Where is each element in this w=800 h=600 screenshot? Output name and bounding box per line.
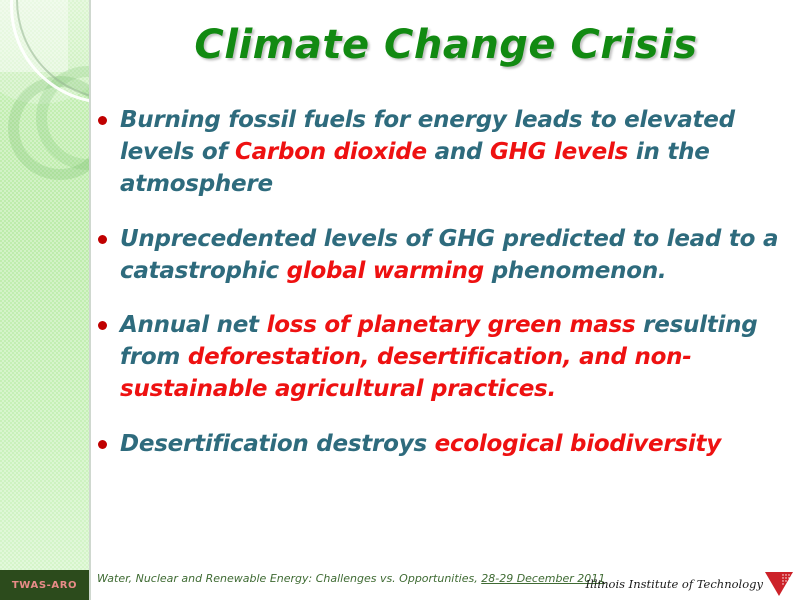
sidebar-divider — [89, 0, 91, 570]
bullet-4-seg-0: Desertification destroys — [120, 431, 435, 457]
footer-divider — [91, 568, 800, 569]
slide-canvas: Climate Change Crisis Burning fossil fue… — [0, 0, 800, 600]
list-item: Burning fossil fuels for energy leads to… — [98, 104, 792, 201]
bullet-3-seg-0: Annual net — [120, 312, 267, 338]
bullet-4-text: Desertification destroys ecological biod… — [120, 428, 792, 460]
institution-name: Illinois Institute of Technology — [586, 577, 763, 591]
bullet-dot-icon — [98, 321, 107, 330]
bullet-dot-icon — [98, 116, 107, 125]
bullet-3-text: Annual net loss of planetary green mass … — [120, 309, 792, 406]
bullet-1-seg-3: GHG levels — [490, 139, 628, 165]
list-item: Desertification destroys ecological biod… — [98, 428, 792, 460]
bullet-2-seg-2: phenomenon. — [484, 258, 666, 284]
bullet-4-seg-1: ecological biodiversity — [435, 431, 721, 457]
bullet-3-seg-3: deforestation, desertification, and non-… — [120, 344, 692, 402]
footer-note-main: Water, Nuclear and Renewable Energy: Cha… — [97, 572, 478, 585]
page-title: Climate Change Crisis — [96, 22, 796, 68]
bullet-1-text: Burning fossil fuels for energy leads to… — [120, 104, 792, 201]
twas-aro-label: TWAS-ARO — [12, 580, 77, 591]
decorative-sidebar — [0, 0, 89, 570]
list-item: Annual net loss of planetary green mass … — [98, 309, 792, 406]
bullet-dot-icon — [98, 235, 107, 244]
bullet-1-seg-2: and — [427, 139, 490, 165]
bullet-2-seg-1: global warming — [287, 258, 484, 284]
iit-triangle-icon — [764, 571, 794, 597]
bullet-dot-icon — [98, 440, 107, 449]
bullet-list: Burning fossil fuels for energy leads to… — [98, 104, 792, 482]
institution-logo: Illinois Institute of Technology — [586, 570, 794, 598]
list-item: Unprecedented levels of GHG predicted to… — [98, 223, 792, 287]
bullet-2-text: Unprecedented levels of GHG predicted to… — [120, 223, 792, 287]
footer-conference-note: Water, Nuclear and Renewable Energy: Cha… — [97, 572, 605, 585]
twas-aro-badge: TWAS-ARO — [0, 570, 89, 600]
footer-badge-divider — [89, 570, 91, 600]
bullet-1-seg-1: Carbon dioxide — [235, 139, 427, 165]
bullet-3-seg-1: loss of planetary green mass — [267, 312, 636, 338]
